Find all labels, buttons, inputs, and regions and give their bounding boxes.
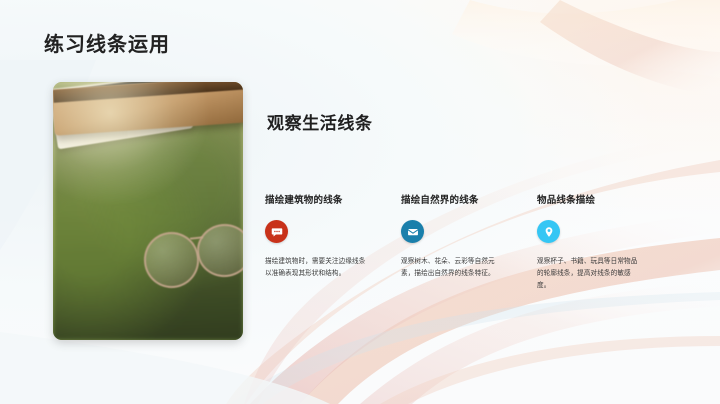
feature-body-1: 描绘建筑物时，需要关注边缘线条以准确表现其形状和结构。 <box>265 256 371 280</box>
location-pin-icon <box>537 220 560 243</box>
comment-icon <box>265 220 288 243</box>
mail-icon <box>401 220 424 243</box>
hero-photo <box>53 82 243 340</box>
slide-canvas: 练习线条运用 观察生活线条 描绘建筑物的线条 描绘建筑物 <box>0 0 720 404</box>
photo-sunlight-glow <box>53 82 243 340</box>
feature-column-2: 描绘自然界的线条 观察树木、花朵、云彩等自然元素，描绘出自然界的线条特征。 <box>401 192 515 293</box>
feature-title-1: 描绘建筑物的线条 <box>265 192 379 206</box>
feature-title-2: 描绘自然界的线条 <box>401 192 515 206</box>
feature-columns: 描绘建筑物的线条 描绘建筑物时，需要关注边缘线条以准确表现其形状和结构。 描绘自… <box>265 192 695 293</box>
feature-body-2: 观察树木、花朵、云彩等自然元素，描绘出自然界的线条特征。 <box>401 256 507 280</box>
section-headline: 观察生活线条 <box>267 109 373 134</box>
page-title: 练习线条运用 <box>44 28 170 57</box>
feature-title-3: 物品线条描绘 <box>537 192 651 206</box>
feature-body-3: 观察杯子、书籍、玩具等日常物品的轮廓线条，提高对线条的敏感度。 <box>537 256 643 293</box>
feature-column-1: 描绘建筑物的线条 描绘建筑物时，需要关注边缘线条以准确表现其形状和结构。 <box>265 192 379 293</box>
feature-column-3: 物品线条描绘 观察杯子、书籍、玩具等日常物品的轮廓线条，提高对线条的敏感度。 <box>537 192 651 293</box>
